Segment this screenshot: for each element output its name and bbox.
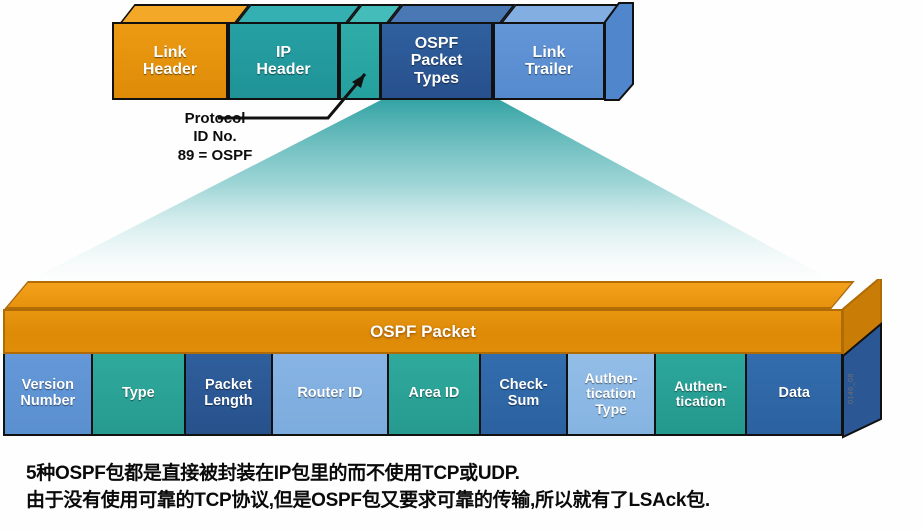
- link-trailer-block: Link Trailer: [493, 22, 605, 100]
- field-authentication: Authen- tication: [656, 354, 748, 434]
- callout-line-1: Protocol: [140, 110, 290, 128]
- field-type: Type: [93, 354, 187, 434]
- caption-line-1: 5种OSPF包都是直接被封装在IP包里的而不使用TCP或UDP.: [26, 460, 916, 487]
- diagram-canvas: Link Header IP Header OSPF Packet Types: [0, 0, 923, 530]
- field-packet-length: Packet Length: [186, 354, 273, 434]
- ospf-packet-detail: OSPF Packet Version Number Type Packet: [0, 281, 923, 456]
- field-router-id: Router ID: [273, 354, 389, 434]
- callout-line-3: 89 = OSPF: [140, 147, 290, 165]
- field-checksum: Check- Sum: [481, 354, 569, 434]
- ospf-packet-band: OSPF Packet: [3, 309, 843, 354]
- field-area-id: Area ID: [389, 354, 481, 434]
- ospf-field-row: Version Number Type Packet Length Router…: [3, 354, 843, 436]
- caption-line-2: 由于没有使用可靠的TCP协议,但是OSPF包又要求可靠的传输,所以就有了LSAc…: [26, 487, 916, 514]
- ospf-packet-lid: [4, 281, 854, 309]
- caption-text: 5种OSPF包都是直接被封装在IP包里的而不使用TCP或UDP. 由于没有使用可…: [26, 460, 916, 515]
- ospf-packet-side-face: [838, 279, 923, 459]
- ospf-packet-types-label: OSPF Packet Types: [411, 35, 463, 87]
- ospf-packet-band-label: OSPF Packet: [370, 322, 476, 342]
- encapsulation-bar-side-face: [600, 0, 645, 105]
- field-data: Data: [747, 354, 841, 434]
- field-authentication-type: Authen- tication Type: [568, 354, 656, 434]
- field-version-number: Version Number: [5, 354, 93, 434]
- callout-line-2: ID No.: [140, 128, 290, 146]
- link-trailer-label: Link Trailer: [525, 44, 573, 79]
- protocol-id-callout: Protocol ID No. 89 = OSPF: [140, 110, 290, 165]
- figure-id-watermark: 0146_08: [848, 373, 855, 404]
